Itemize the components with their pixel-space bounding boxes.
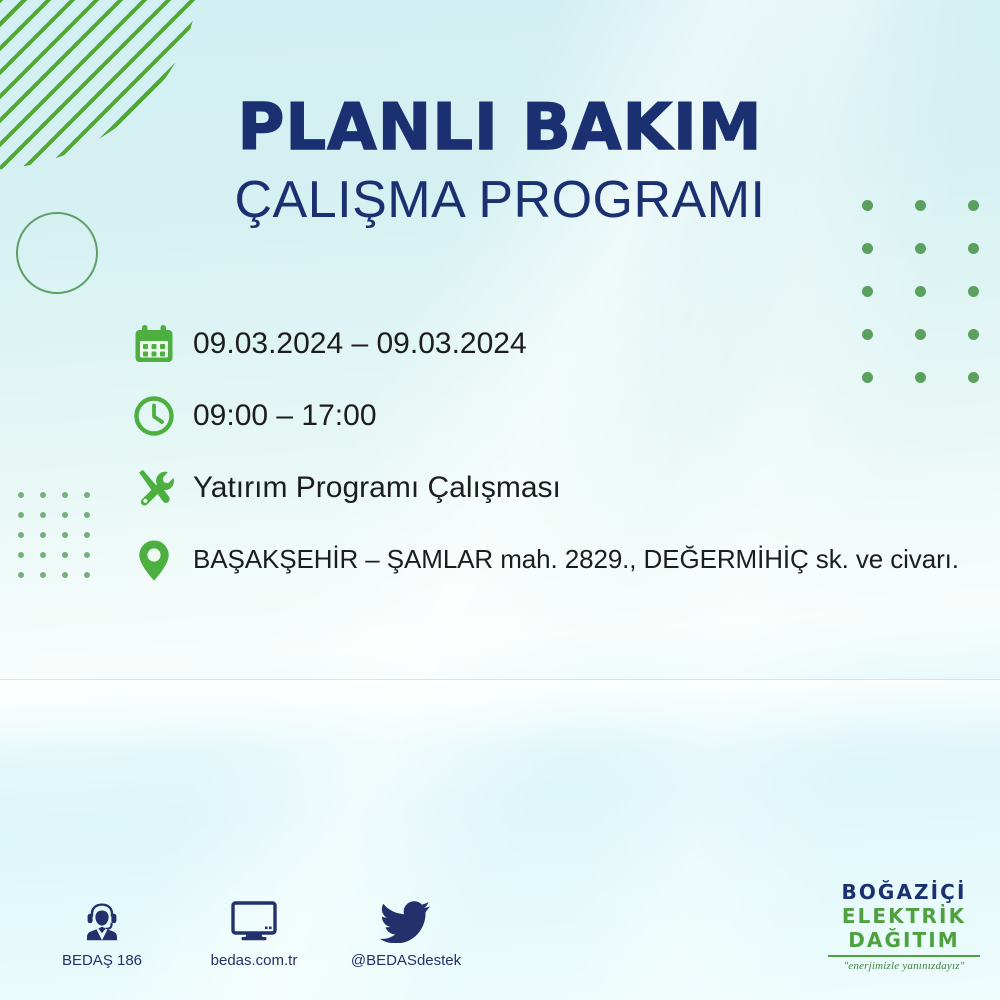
- dot: [18, 512, 24, 518]
- location-pin-icon: [131, 537, 193, 583]
- company-logo: BOĞAZİÇİ ELEKTRİK DAĞITIM "enerjimizle y…: [826, 882, 982, 972]
- dot: [40, 572, 46, 578]
- detail-row-time: 09:00 – 17:00: [131, 380, 961, 452]
- dot: [62, 572, 68, 578]
- logo-tagline: "enerjimizle yanınızdayız": [826, 961, 982, 972]
- detail-row-worktype: Yatırım Programı Çalışması: [131, 452, 961, 524]
- contact-phone-label: BEDAŞ 186: [62, 952, 142, 969]
- dot: [968, 329, 979, 340]
- contact-twitter[interactable]: @BEDASdestek: [350, 893, 462, 969]
- twitter-bird-icon: [380, 893, 432, 943]
- dot: [18, 572, 24, 578]
- background-band-divider: [0, 679, 1000, 680]
- logo-divider: [828, 955, 980, 957]
- clock-icon: [131, 393, 193, 439]
- dot: [18, 532, 24, 538]
- dot: [84, 492, 90, 498]
- dot: [968, 243, 979, 254]
- dot: [40, 552, 46, 558]
- monitor-icon: [229, 893, 279, 943]
- dot-grid-left-decoration: [18, 492, 106, 592]
- contact-twitter-label: @BEDASdestek: [351, 952, 461, 969]
- calendar-icon: [131, 321, 193, 367]
- poster-canvas: PLANLI BAKIM ÇALIŞMA PROGRAMI: [0, 0, 1000, 1000]
- dot: [40, 512, 46, 518]
- dot: [84, 532, 90, 538]
- page-subtitle: ÇALIŞMA PROGRAMI: [0, 174, 1000, 226]
- contact-website-label: bedas.com.tr: [211, 952, 298, 969]
- page-title: PLANLI BAKIM: [0, 96, 1000, 160]
- dot: [968, 372, 979, 383]
- dot: [84, 572, 90, 578]
- dot: [62, 532, 68, 538]
- detail-value-location: BAŞAKŞEHİR – ŞAMLAR mah. 2829., DEĞERMİH…: [193, 544, 959, 575]
- dot: [40, 532, 46, 538]
- dot: [18, 552, 24, 558]
- title-block: PLANLI BAKIM ÇALIŞMA PROGRAMI: [0, 96, 1000, 226]
- logo-line-1: BOĞAZİÇİ: [826, 882, 982, 902]
- dot: [62, 512, 68, 518]
- logo-line-3: DAĞITIM: [826, 930, 982, 950]
- dot: [862, 243, 873, 254]
- background-band-wash: [0, 680, 1000, 750]
- dot: [62, 552, 68, 558]
- dot: [862, 286, 873, 297]
- dot: [40, 492, 46, 498]
- dot: [84, 552, 90, 558]
- detail-row-date: 09.03.2024 – 09.03.2024: [131, 308, 961, 380]
- dot: [968, 286, 979, 297]
- detail-value-time: 09:00 – 17:00: [193, 398, 377, 434]
- dot: [62, 492, 68, 498]
- dot: [84, 512, 90, 518]
- footer-contacts: BEDAŞ 186 bedas.com.tr @BEDASdestek: [46, 893, 462, 969]
- detail-value-worktype: Yatırım Programı Çalışması: [193, 470, 561, 506]
- detail-row-location: BAŞAKŞEHİR – ŞAMLAR mah. 2829., DEĞERMİH…: [131, 524, 961, 596]
- dot: [915, 286, 926, 297]
- contact-phone[interactable]: BEDAŞ 186: [46, 893, 158, 969]
- detail-value-date: 09.03.2024 – 09.03.2024: [193, 326, 527, 362]
- logo-line-2: ELEKTRİK: [826, 906, 982, 926]
- dot: [915, 243, 926, 254]
- contact-website[interactable]: bedas.com.tr: [198, 893, 310, 969]
- support-agent-icon: [79, 893, 125, 943]
- dot: [18, 492, 24, 498]
- tools-icon: [131, 465, 193, 511]
- maintenance-details-list: 09.03.2024 – 09.03.2024 09:00 – 17:00: [131, 308, 961, 596]
